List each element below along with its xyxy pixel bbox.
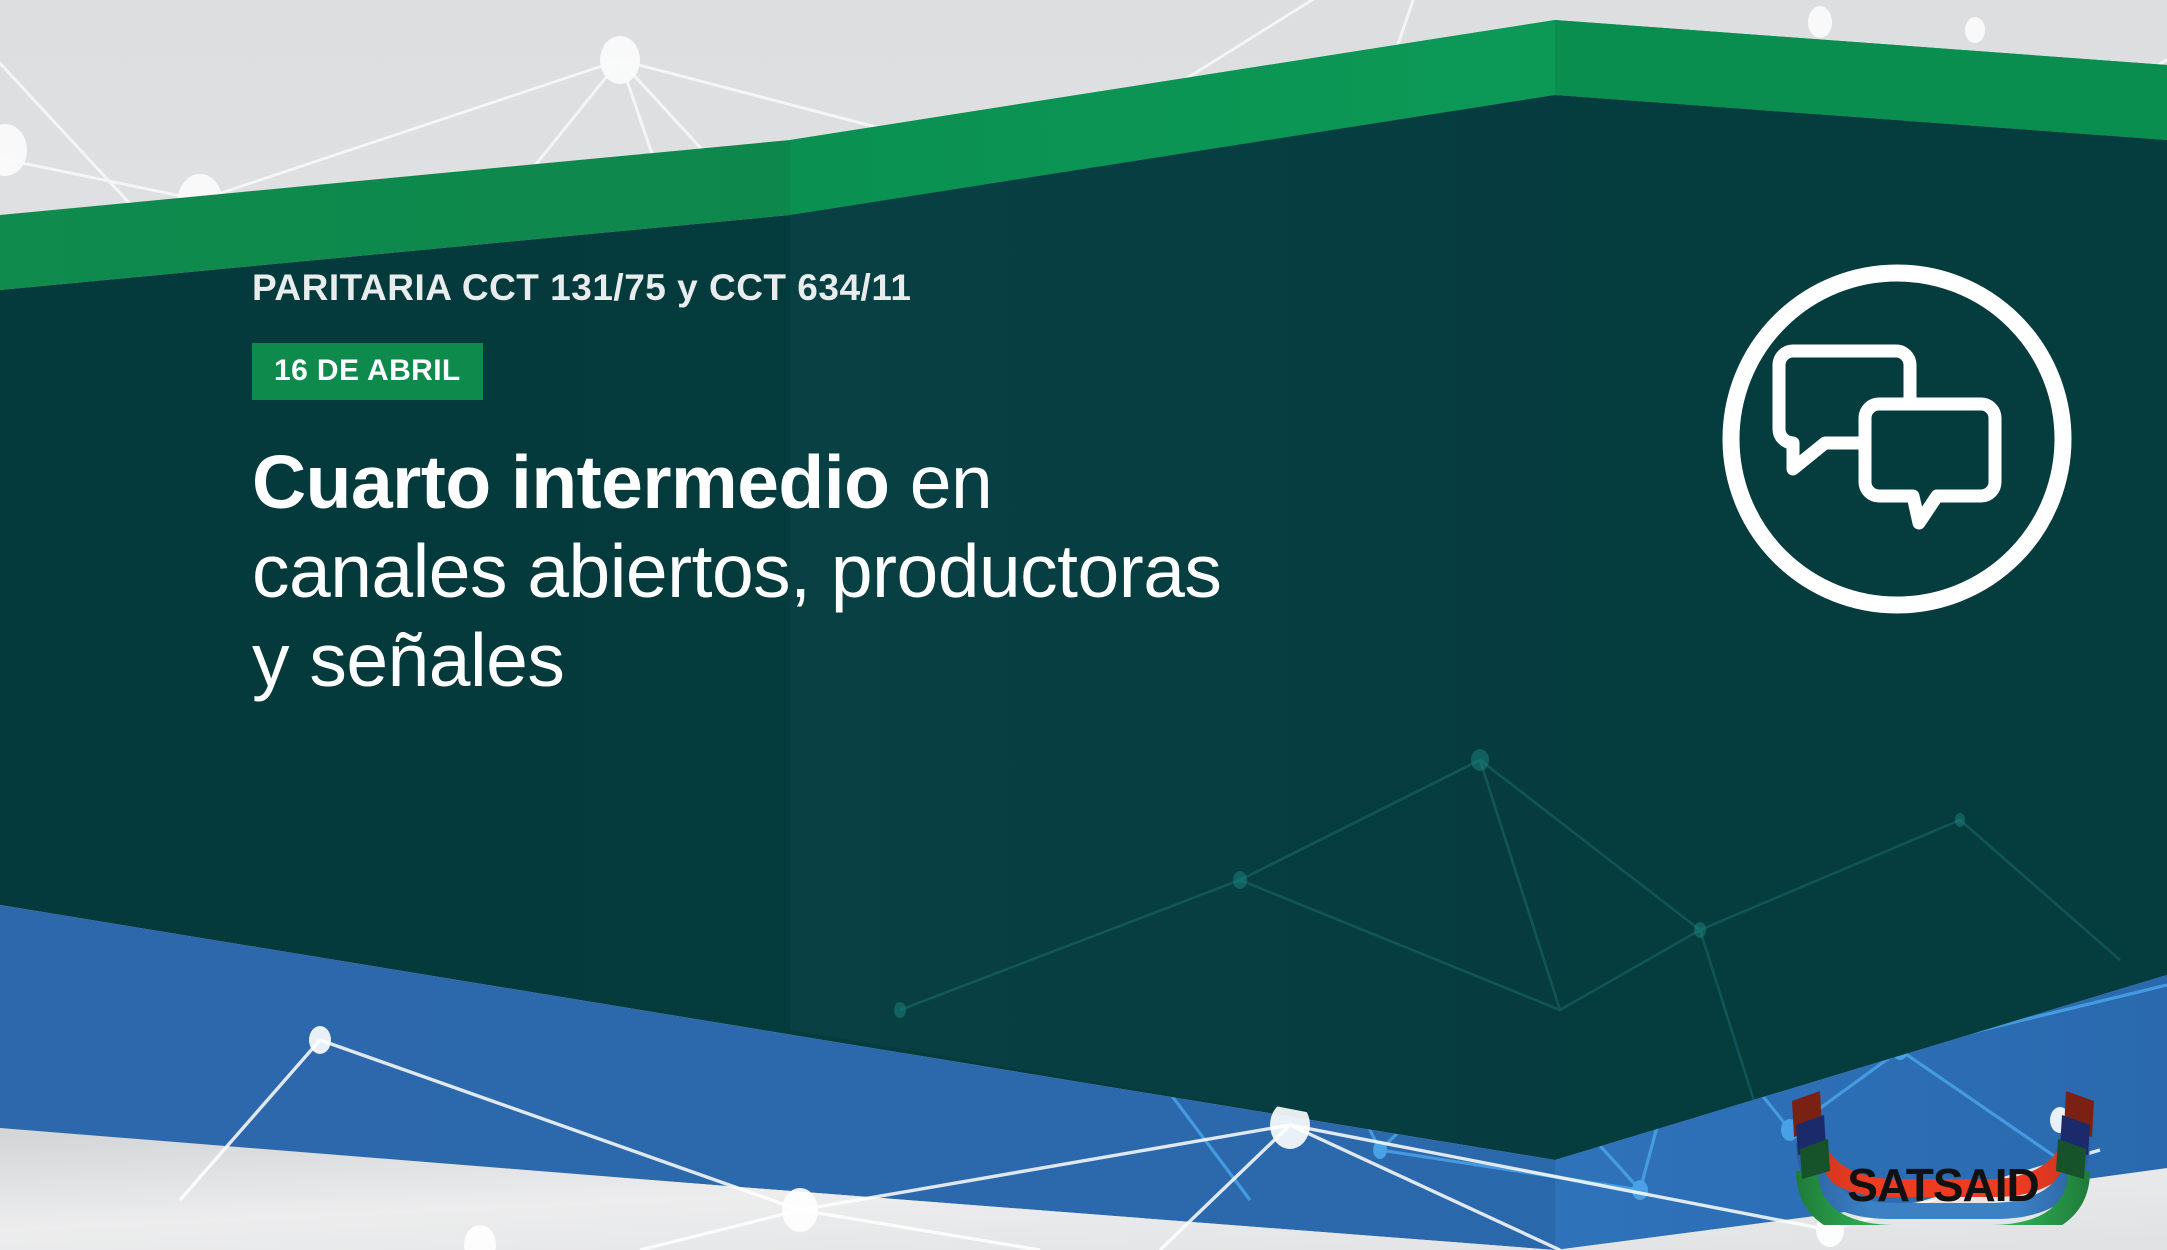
satsaid-wordmark: SATSAID bbox=[1847, 1159, 2039, 1211]
headline-line-2: canales abiertos, productoras bbox=[252, 527, 1592, 616]
headline-line-1: Cuarto intermedio en bbox=[252, 438, 1592, 527]
headline-line-1-rest: en bbox=[889, 440, 992, 524]
date-badge: 16 DE ABRIL bbox=[252, 343, 483, 400]
chat-bubbles-badge bbox=[1713, 255, 2081, 623]
poster-canvas: PARITARIA CCT 131/75 y CCT 634/11 16 DE … bbox=[0, 0, 2167, 1250]
headline-line-3: y señales bbox=[252, 616, 1592, 705]
satsaid-logo: SATSAID bbox=[1778, 1085, 2108, 1225]
page-title: Cuarto intermedio en canales abiertos, p… bbox=[252, 438, 1592, 706]
chat-bubbles-icon bbox=[1713, 255, 2081, 623]
eyebrow-text: PARITARIA CCT 131/75 y CCT 634/11 bbox=[252, 268, 1592, 309]
headline-emphasis: Cuarto intermedio bbox=[252, 440, 889, 524]
hero-content: PARITARIA CCT 131/75 y CCT 634/11 16 DE … bbox=[252, 268, 1592, 705]
satsaid-logo-icon: SATSAID bbox=[1778, 1085, 2108, 1225]
chat-bubble-front bbox=[1865, 404, 1995, 523]
